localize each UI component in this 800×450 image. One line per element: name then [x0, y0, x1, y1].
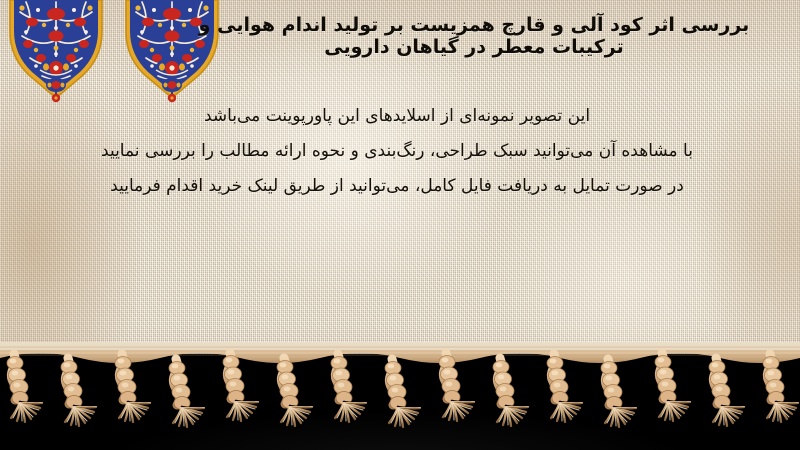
persian-medallion-ornament-left — [10, 0, 102, 102]
slide-body-line-2: با مشاهده آن می‌توانید سبک طراحی، رنگ‌بن… — [6, 143, 788, 160]
slide-body: این تصویر نمونه‌ای از اسلایدهای این پاور… — [6, 108, 788, 195]
slide-body-line-3: در صورت تمایل به دریافت فایل کامل، می‌تو… — [6, 178, 788, 195]
carpet-knotted-fringe — [0, 338, 800, 450]
slide-title-line-2: ترکیبات معطر در گیاهان دارویی — [164, 36, 784, 58]
slide-title-line-1: بررسی اثر کود آلی و قارچ همزیست بر تولید… — [164, 14, 784, 36]
slide-title: بررسی اثر کود آلی و قارچ همزیست بر تولید… — [164, 14, 784, 59]
slide-canvas: بررسی اثر کود آلی و قارچ همزیست بر تولید… — [0, 0, 800, 450]
slide-body-line-1: این تصویر نمونه‌ای از اسلایدهای این پاور… — [6, 108, 788, 125]
